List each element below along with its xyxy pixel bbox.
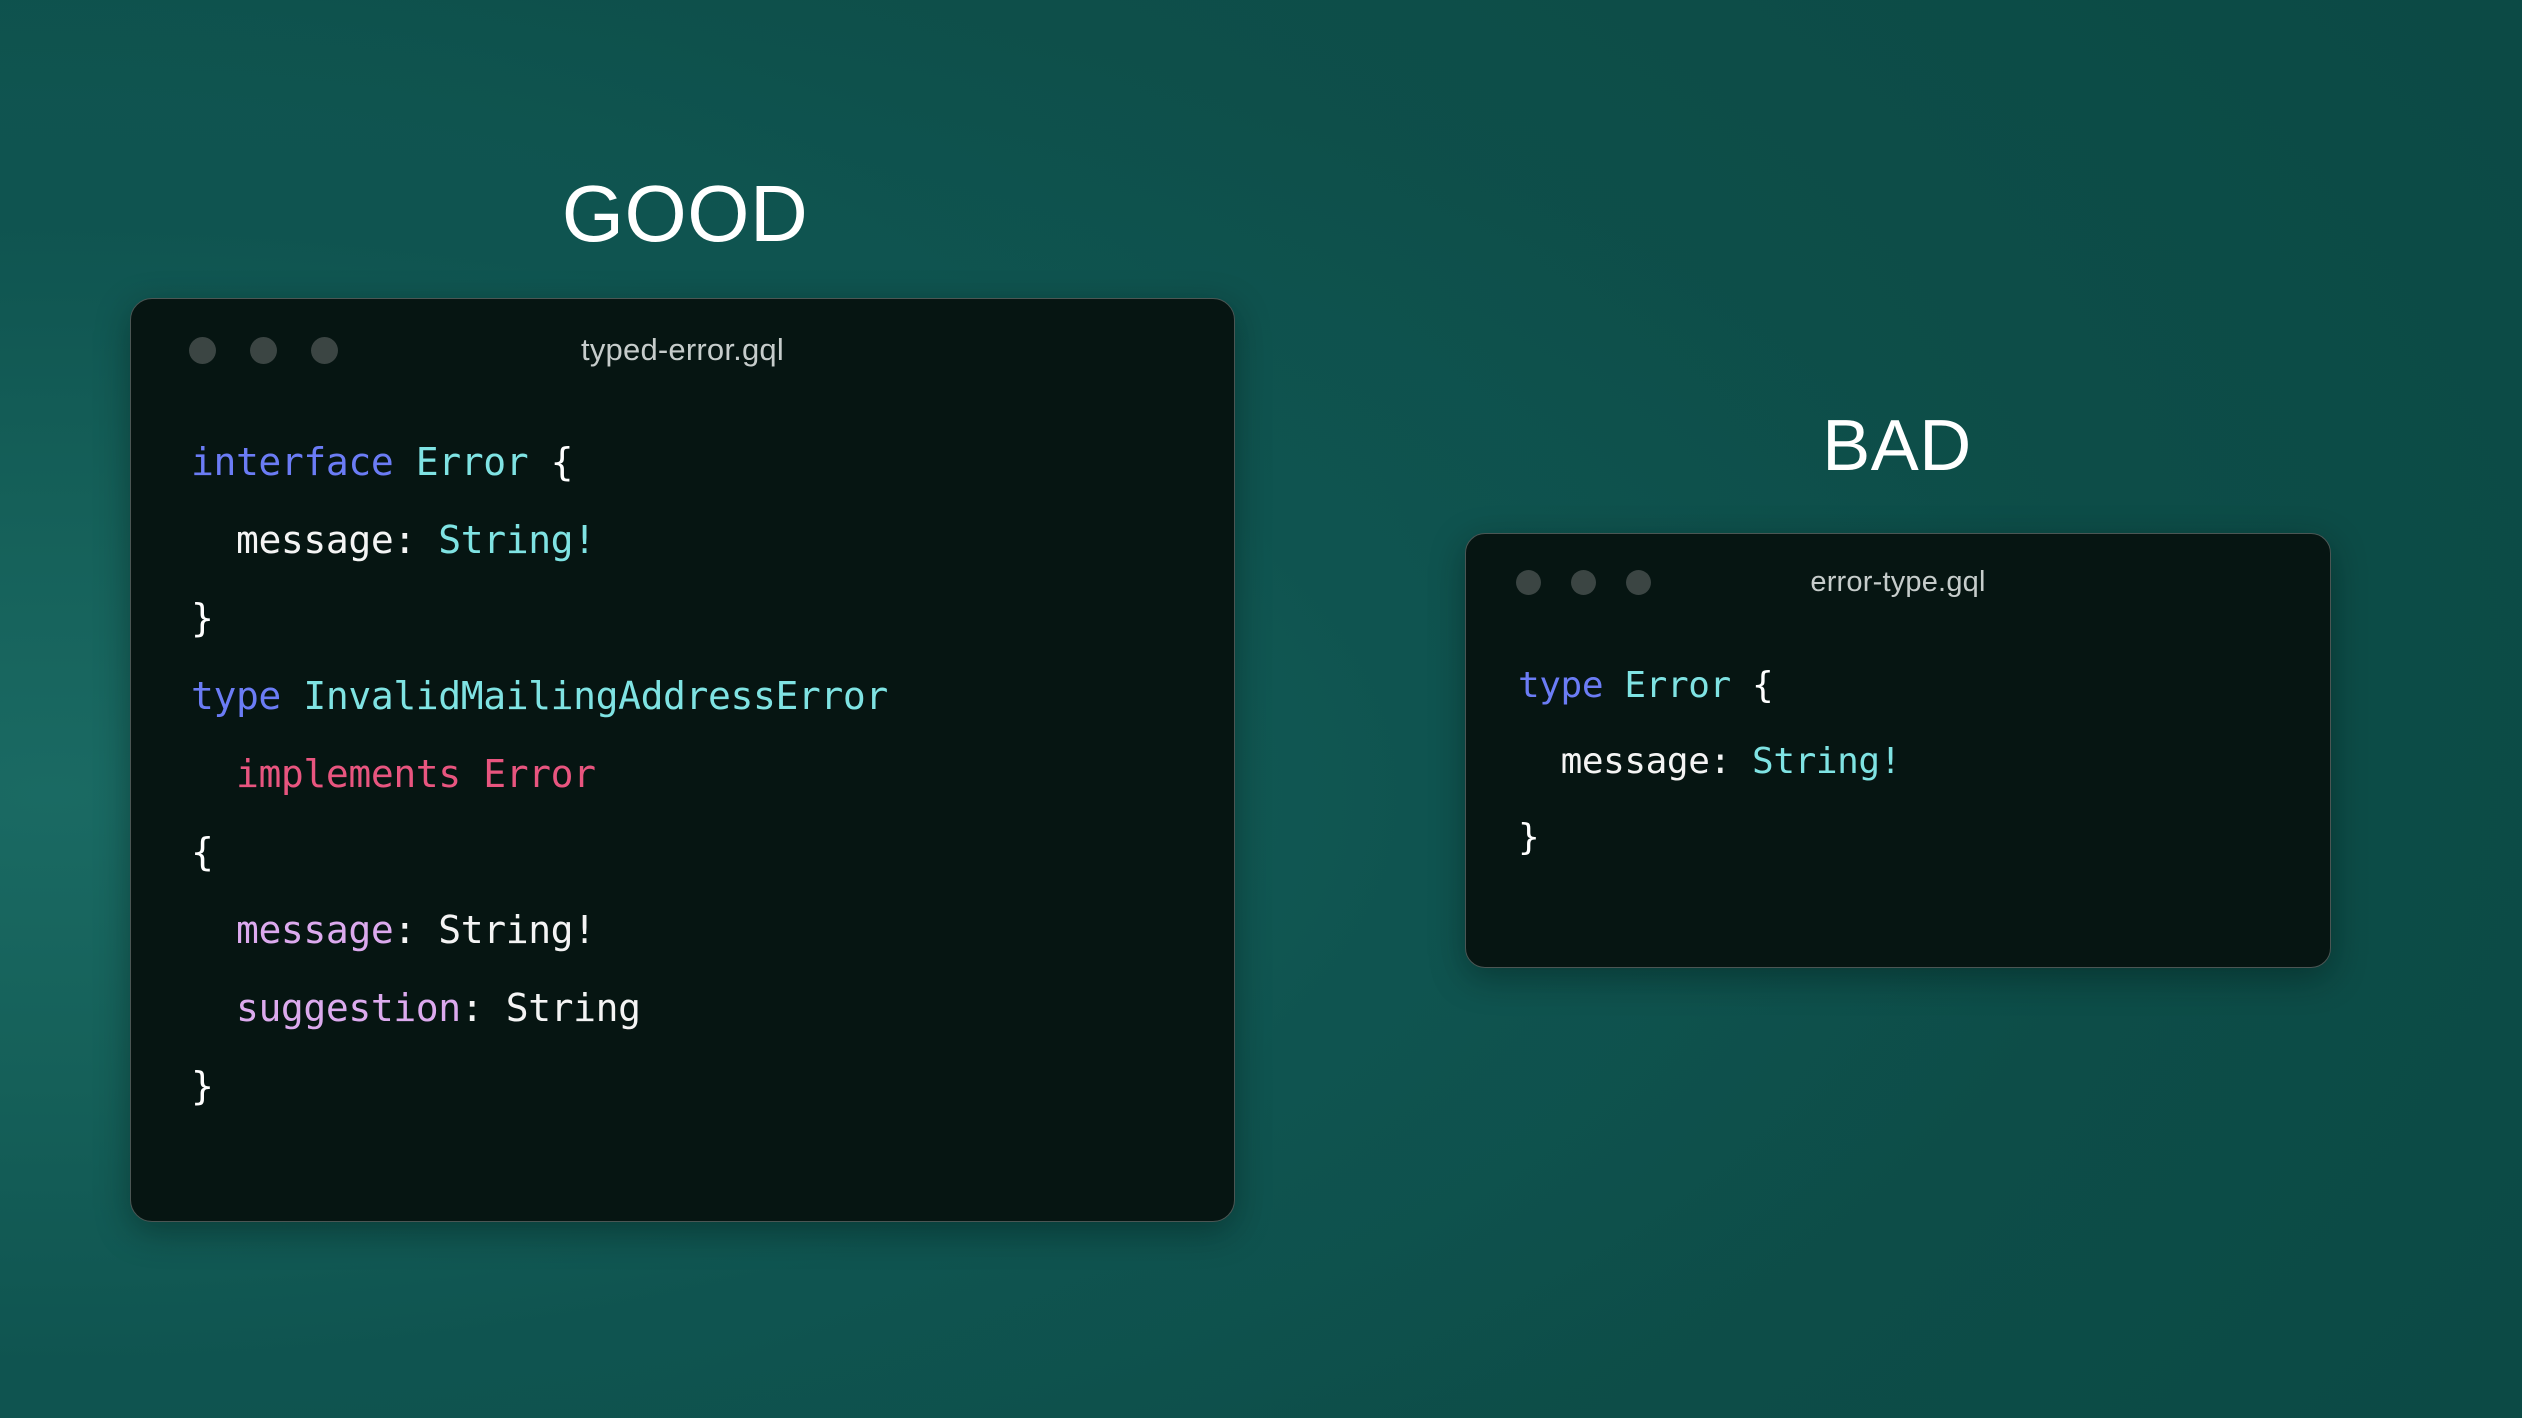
code-token-punct: { bbox=[1752, 665, 1773, 706]
code-block-bad: type Error { message: String!} bbox=[1466, 630, 2330, 876]
code-token-plain: message bbox=[1561, 741, 1710, 782]
bad-example-label: BAD bbox=[1742, 410, 2052, 482]
code-line: message: String! bbox=[191, 501, 1234, 579]
code-token-field_name: message bbox=[236, 908, 393, 952]
code-token-punct: { bbox=[191, 830, 213, 874]
code-token-plain bbox=[1518, 741, 1561, 782]
code-token-plain: : bbox=[393, 908, 438, 952]
code-token-punct: } bbox=[191, 1064, 213, 1108]
code-token-plain bbox=[393, 440, 415, 484]
code-token-plain: : bbox=[1709, 741, 1752, 782]
code-token-plain: : bbox=[461, 986, 506, 1030]
code-token-plain bbox=[281, 674, 303, 718]
maximize-dot-icon[interactable] bbox=[311, 337, 338, 364]
code-line: message: String! bbox=[1518, 724, 2330, 800]
code-token-punct: } bbox=[1518, 817, 1539, 858]
code-token-plain: String bbox=[506, 986, 641, 1030]
code-token-keyword: interface bbox=[191, 440, 393, 484]
code-token-implements: implements Error bbox=[236, 752, 596, 796]
code-token-plain bbox=[528, 440, 550, 484]
code-token-keyword: type bbox=[1518, 665, 1603, 706]
code-token-type_name: String! bbox=[438, 518, 595, 562]
code-window-good: typed-error.gql interface Error { messag… bbox=[130, 298, 1235, 1222]
code-line: message: String! bbox=[191, 891, 1234, 969]
code-token-plain bbox=[191, 518, 236, 562]
maximize-dot-icon[interactable] bbox=[1626, 570, 1651, 595]
code-token-plain bbox=[191, 752, 236, 796]
close-dot-icon[interactable] bbox=[1516, 570, 1541, 595]
code-token-punct: { bbox=[551, 440, 573, 484]
slide-canvas: GOOD typed-error.gql interface Error { m… bbox=[0, 0, 2522, 1418]
code-token-plain: String! bbox=[438, 908, 595, 952]
code-token-punct: } bbox=[191, 596, 213, 640]
window-titlebar-good: typed-error.gql bbox=[131, 299, 1234, 401]
window-controls-bad bbox=[1516, 570, 1651, 595]
code-line: } bbox=[191, 1047, 1234, 1125]
code-token-type_name: Error bbox=[416, 440, 528, 484]
close-dot-icon[interactable] bbox=[189, 337, 216, 364]
code-token-plain bbox=[191, 908, 236, 952]
code-line: type InvalidMailingAddressError bbox=[191, 657, 1234, 735]
code-token-plain: : bbox=[393, 518, 438, 562]
code-token-type_name: InvalidMailingAddressError bbox=[303, 674, 887, 718]
code-token-plain bbox=[191, 986, 236, 1030]
code-line: } bbox=[191, 579, 1234, 657]
window-titlebar-bad: error-type.gql bbox=[1466, 534, 2330, 630]
code-line: suggestion: String bbox=[191, 969, 1234, 1047]
minimize-dot-icon[interactable] bbox=[250, 337, 277, 364]
good-example-label: GOOD bbox=[530, 174, 840, 254]
window-controls-good bbox=[189, 337, 338, 364]
code-token-plain bbox=[1603, 665, 1624, 706]
code-line: interface Error { bbox=[191, 423, 1234, 501]
code-token-type_name: Error bbox=[1624, 665, 1730, 706]
code-line: implements Error bbox=[191, 735, 1234, 813]
code-token-plain bbox=[1731, 665, 1752, 706]
code-block-good: interface Error { message: String!}type … bbox=[131, 401, 1234, 1125]
minimize-dot-icon[interactable] bbox=[1571, 570, 1596, 595]
code-line: } bbox=[1518, 800, 2330, 876]
code-token-plain: message bbox=[236, 518, 393, 562]
code-line: { bbox=[191, 813, 1234, 891]
code-token-field_name: suggestion bbox=[236, 986, 461, 1030]
code-window-bad: error-type.gql type Error { message: Str… bbox=[1465, 533, 2331, 968]
code-token-keyword: type bbox=[191, 674, 281, 718]
code-line: type Error { bbox=[1518, 648, 2330, 724]
code-token-type_name: String! bbox=[1752, 741, 1901, 782]
